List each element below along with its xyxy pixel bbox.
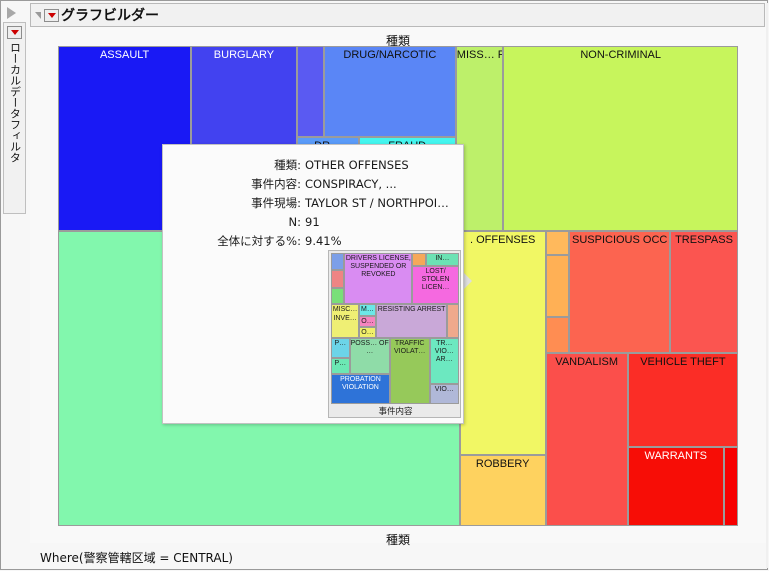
mini-treemap-cell: DRIVERS LICENSE, SUSPENDED OR REVOKED: [344, 253, 412, 304]
treemap-cell-label: [547, 232, 569, 234]
treemap-cell-label: TRESPASS: [671, 232, 737, 247]
mini-treemap-cell-label: MISC… INVE…: [332, 305, 358, 322]
treemap-cell[interactable]: [546, 317, 570, 353]
where-clause: Where(警察管轄区域 = CENTRAL): [40, 549, 233, 566]
mini-treemap-cell: IN…: [426, 253, 459, 266]
treemap-cell[interactable]: VANDALISM: [546, 353, 628, 526]
tooltip-row: 全体に対する%:9.41%: [169, 232, 457, 251]
window-title: グラフビルダー: [61, 5, 159, 25]
mini-treemap-cell-label: M…: [360, 305, 375, 314]
mini-treemap-cell: [331, 288, 344, 304]
mini-treemap-cell: M…: [359, 304, 376, 315]
red-triangle-icon[interactable]: [44, 9, 59, 22]
local-data-filter-label: ローカルデータフィルタ: [9, 42, 21, 163]
mini-treemap-cell-label: P…: [332, 359, 349, 368]
mini-treemap-cell-label: VIO…: [431, 385, 458, 394]
mini-treemap-cell: [447, 304, 459, 337]
mini-treemap-cell: P…: [331, 338, 350, 358]
treemap-cell-label: . OFFENSES: [461, 232, 545, 247]
mini-treemap-cell-label: [332, 289, 343, 290]
mini-treemap-cell: [412, 253, 425, 266]
mini-treemap-cell: RESISTING ARREST: [376, 304, 448, 337]
mini-treemap-cell-label: DRIVERS LICENSE, SUSPENDED OR REVOKED: [345, 254, 411, 280]
tooltip-row: N:91: [169, 213, 457, 232]
graph-builder-window: ローカルデータフィルタ グラフビルダー 種類 ASSAULTBURGLARYDR…: [0, 0, 769, 571]
treemap-cell[interactable]: . OFFENSES: [460, 231, 546, 456]
tooltip-rows: 種類:OTHER OFFENSES事件内容:CONSPIRACY, ...事件現…: [163, 145, 463, 251]
tooltip-pointer-icon: [463, 272, 472, 290]
tooltip-row-key: 種類:: [169, 156, 301, 175]
treemap-cell[interactable]: [297, 46, 324, 137]
outline-triangle-icon[interactable]: [35, 12, 41, 19]
window-right-edge: [766, 3, 768, 568]
titlebar: グラフビルダー: [30, 3, 765, 27]
treemap-cell-label: [725, 448, 737, 450]
mini-treemap-cell: POSS… OF …: [350, 338, 390, 374]
treemap-cell-label: SUSPICIOUS OCC: [570, 232, 669, 247]
tooltip-row-value: 91: [305, 213, 320, 232]
local-data-filter-strip[interactable]: ローカルデータフィルタ: [3, 22, 26, 214]
tooltip-row-value: CONSPIRACY, ...: [305, 175, 397, 194]
mini-treemap-cell: P…: [331, 358, 350, 374]
mini-treemap-cell: VIO…: [430, 384, 459, 404]
tooltip-row-key: 全体に対する%:: [169, 232, 301, 251]
tooltip-row-value: OTHER OFFENSES: [305, 156, 409, 175]
treemap-cell-label: [298, 47, 323, 49]
red-triangle-icon[interactable]: [7, 26, 22, 39]
treemap-cell[interactable]: TRESPASS: [670, 231, 738, 353]
treemap-cell[interactable]: WARRANTS: [628, 447, 724, 526]
mini-treemap-cell-label: [332, 254, 343, 255]
treemap-cell-label: BURGLARY: [192, 47, 295, 62]
mini-treemap-cell-label: [448, 305, 458, 306]
tooltip-row-key: N:: [169, 213, 301, 232]
tooltip-row: 種類:OTHER OFFENSES: [169, 156, 457, 175]
tooltip-row: 事件現場:TAYLOR ST / NORTHPOINT ST, ...: [169, 194, 457, 213]
mini-treemap-cell-label: TRAFFIC VIOLAT…: [391, 339, 429, 356]
mini-treemap-cell-label: POSS… OF …: [351, 339, 389, 356]
treemap-cell-label: ASSAULT: [59, 47, 190, 62]
mini-treemap-cell-label: PROBATION VIOLATION: [332, 375, 389, 392]
mini-treemap-cell-label: RESISTING ARREST: [377, 305, 447, 314]
mini-treemap-cell: TR… VIO… AR…: [430, 338, 459, 385]
triangle-right-icon[interactable]: [7, 7, 16, 19]
treemap-cell[interactable]: VEHICLE THEFT: [628, 353, 738, 447]
treemap-cell-label: [547, 318, 569, 320]
tooltip-mini-treemap-panel: DRIVERS LICENSE, SUSPENDED OR REVOKEDIN……: [328, 250, 461, 418]
mini-treemap-cell-label: [413, 254, 424, 255]
hover-tooltip: 種類:OTHER OFFENSES事件内容:CONSPIRACY, ...事件現…: [162, 144, 464, 424]
treemap-cell-label: VANDALISM: [547, 354, 627, 369]
treemap-cell[interactable]: [724, 447, 738, 526]
treemap-cell-label: DRUG/NARCOTIC: [325, 47, 455, 62]
treemap-cell[interactable]: DRUG/NARCOTIC: [324, 46, 456, 137]
mini-treemap-cell: PROBATION VIOLATION: [331, 374, 390, 404]
tooltip-row-value: 9.41%: [305, 232, 342, 251]
treemap-cell-label: VEHICLE THEFT: [629, 354, 737, 369]
mini-treemap-cell-label: LOST/ STOLEN LICEN…: [413, 267, 458, 293]
treemap-cell-label: NON-CRIMINAL: [504, 47, 737, 62]
mini-treemap: DRIVERS LICENSE, SUSPENDED OR REVOKEDIN……: [331, 253, 459, 404]
treemap-cell-label: MISS… PERS…: [457, 47, 503, 62]
treemap-cell[interactable]: [546, 255, 570, 317]
tooltip-row-key: 事件内容:: [169, 175, 301, 194]
tooltip-row: 事件内容:CONSPIRACY, ...: [169, 175, 457, 194]
mini-treemap-cell: LOST/ STOLEN LICEN…: [412, 266, 459, 305]
mini-treemap-cell-label: O…: [360, 328, 375, 337]
tooltip-row-key: 事件現場:: [169, 194, 301, 213]
mini-treemap-cell: O…: [359, 327, 376, 338]
mini-treemap-axis-label: 事件内容: [329, 405, 462, 417]
mini-treemap-cell: MISC… INVE…: [331, 304, 359, 337]
mini-treemap-cell-label: TR… VIO… AR…: [431, 339, 458, 365]
treemap-cell[interactable]: NON-CRIMINAL: [503, 46, 738, 231]
mini-treemap-cell-label: O…: [360, 317, 375, 326]
mini-treemap-cell: [331, 253, 344, 270]
treemap-cell[interactable]: SUSPICIOUS OCC: [569, 231, 670, 353]
treemap-cell[interactable]: [546, 231, 570, 255]
mini-treemap-cell-label: IN…: [427, 254, 458, 263]
mini-treemap-cell: O…: [359, 316, 376, 327]
treemap-cell-label: [547, 256, 569, 258]
treemap-cell[interactable]: ROBBERY: [460, 455, 546, 526]
mini-treemap-cell: TRAFFIC VIOLAT…: [390, 338, 430, 404]
x-axis-label: 種類: [30, 531, 766, 548]
mini-treemap-cell-label: P…: [332, 339, 349, 348]
treemap-cell-label: ROBBERY: [461, 456, 545, 471]
mini-treemap-cell: [331, 270, 344, 288]
tooltip-row-value: TAYLOR ST / NORTHPOINT ST, ...: [305, 194, 457, 213]
mini-treemap-cell-label: [332, 271, 343, 272]
treemap-cell-label: WARRANTS: [629, 448, 723, 463]
